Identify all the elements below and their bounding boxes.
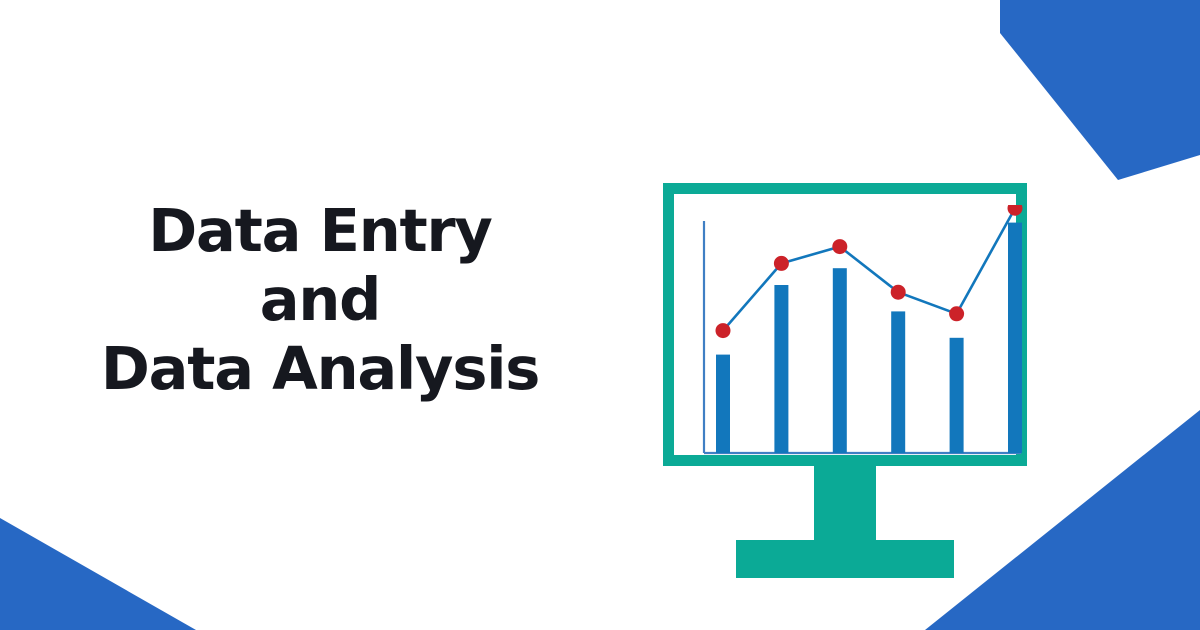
bottom-left-blue-triangle xyxy=(0,490,210,630)
chart-bar xyxy=(833,268,847,453)
bar-line-chart xyxy=(685,205,1027,466)
chart-trend-markers-group xyxy=(716,205,1023,338)
chart-data-point-marker xyxy=(1008,205,1023,216)
page-title: Data Entry and Data Analysis xyxy=(0,196,640,403)
top-right-wedge-polygon xyxy=(1000,0,1200,180)
chart-data-point-marker xyxy=(891,285,906,300)
page-title-line-1: Data Entry xyxy=(0,196,640,265)
chart-axes xyxy=(704,221,1021,453)
bottom-left-wedge-polygon xyxy=(0,518,196,630)
top-right-blue-wedge xyxy=(1000,0,1200,200)
chart-data-point-marker xyxy=(832,239,847,254)
chart-data-point-marker xyxy=(716,323,731,338)
chart-data-point-marker xyxy=(949,306,964,321)
desktop-monitor-illustration xyxy=(663,183,1027,578)
chart-bar xyxy=(891,311,905,453)
chart-bar xyxy=(1008,223,1022,453)
chart-trend-line xyxy=(723,208,1015,330)
page-title-line-3: Data Analysis xyxy=(0,334,640,403)
chart-bar xyxy=(950,338,964,453)
monitor-screen-frame xyxy=(663,183,1027,466)
chart-bars-group xyxy=(716,223,1022,453)
monitor-stand-base xyxy=(736,540,954,578)
chart-data-point-marker xyxy=(774,256,789,271)
monitor-stand-neck xyxy=(814,466,876,540)
page-title-line-2: and xyxy=(0,265,640,334)
poster-canvas: Data Entry and Data Analysis xyxy=(0,0,1200,630)
chart-bar xyxy=(774,285,788,453)
chart-trend-line-group xyxy=(723,208,1015,330)
chart-bar xyxy=(716,355,730,453)
